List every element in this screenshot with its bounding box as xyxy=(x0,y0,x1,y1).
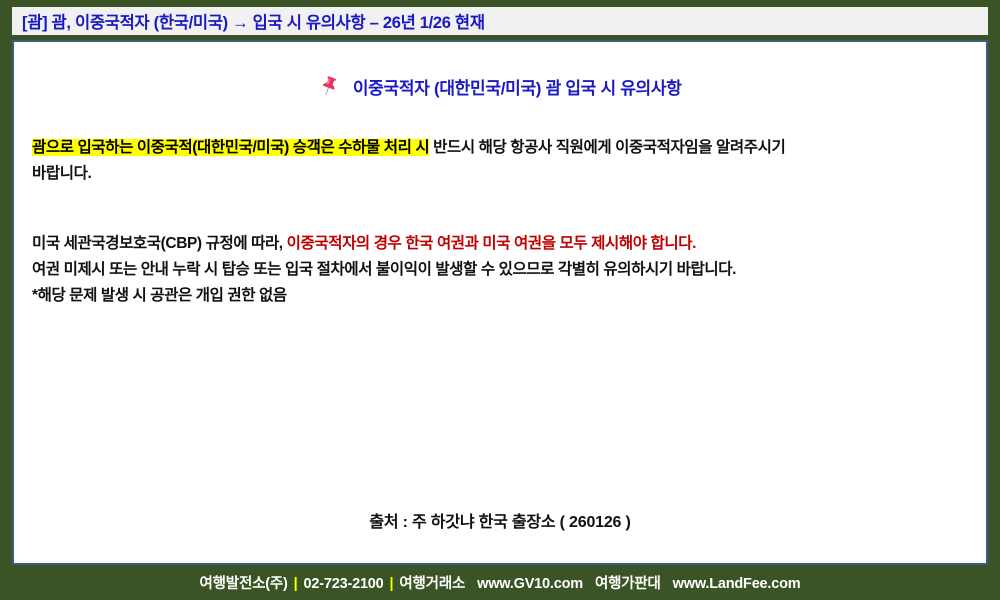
footer-phone: 02-723-2100 xyxy=(304,576,384,592)
paragraph-1-line2: 바랍니다. xyxy=(32,161,968,187)
paragraph-2-line1-plain: 미국 세관국경보호국(CBP) 규정에 따라, xyxy=(32,235,287,252)
source-line: 출처 : 주 하갓냐 한국 출장소 ( 260126 ) xyxy=(14,508,986,532)
paragraph-spacer xyxy=(32,187,968,231)
footer-site-2[interactable]: www.LandFee.com xyxy=(673,576,801,592)
footer-brand-1: 여행거래소 xyxy=(399,576,465,592)
paragraph-2-line2: 여권 미제시 또는 안내 누락 시 탑승 또는 입국 절차에서 불이익이 발생할… xyxy=(32,257,968,283)
paragraph-1-rest: 반드시 해당 항공사 직원에게 이중국적자임을 알려주시기 xyxy=(429,139,785,156)
paragraph-2-line1: 미국 세관국경보호국(CBP) 규정에 따라, 이중국적자의 경우 한국 여권과… xyxy=(32,231,968,257)
paragraph-2-line1-alert: 이중국적자의 경우 한국 여권과 미국 여권을 모두 제시해야 합니다. xyxy=(287,235,696,252)
window-titlebar: [괌] 괌, 이중국적자 (한국/미국) → 입국 시 유의사항 – 26년 1… xyxy=(12,7,988,35)
footer-content: 여행발전소(주)|02-723-2100|여행거래소www.GV10.com여행… xyxy=(200,572,801,593)
footer-separator-2: | xyxy=(390,576,394,592)
paragraph-1-highlight: 괌으로 입국하는 이중국적(대한민국/미국) 승객은 수하물 처리 시 xyxy=(32,139,429,156)
notice-heading-text: 이중국적자 (대한민국/미국) 괌 입국 시 유의사항 xyxy=(353,79,682,98)
notice-card-inner: 이중국적자 (대한민국/미국) 괌 입국 시 유의사항 괌으로 입국하는 이중국… xyxy=(14,74,986,565)
window-title: [괌] 괌, 이중국적자 (한국/미국) → 입국 시 유의사항 – 26년 1… xyxy=(22,9,485,33)
paragraph-2-line3: *해당 문제 발생 시 공관은 개입 권한 없음 xyxy=(32,283,968,309)
page-footer: 여행발전소(주)|02-723-2100|여행거래소www.GV10.com여행… xyxy=(0,565,1000,600)
notice-heading: 이중국적자 (대한민국/미국) 괌 입국 시 유의사항 xyxy=(22,74,978,99)
pushpin-icon xyxy=(318,75,340,97)
notice-card: 이중국적자 (대한민국/미국) 괌 입국 시 유의사항 괌으로 입국하는 이중국… xyxy=(12,40,988,565)
footer-company: 여행발전소(주) xyxy=(200,576,288,592)
footer-separator-1: | xyxy=(294,576,298,592)
notice-body: 괌으로 입국하는 이중국적(대한민국/미국) 승객은 수하물 처리 시 반드시 … xyxy=(22,135,978,309)
paragraph-1: 괌으로 입국하는 이중국적(대한민국/미국) 승객은 수하물 처리 시 반드시 … xyxy=(32,135,968,161)
footer-site-1[interactable]: www.GV10.com xyxy=(477,576,583,592)
footer-brand-2: 여행가판대 xyxy=(595,576,661,592)
notice-page: [괌] 괌, 이중국적자 (한국/미국) → 입국 시 유의사항 – 26년 1… xyxy=(0,0,1000,600)
